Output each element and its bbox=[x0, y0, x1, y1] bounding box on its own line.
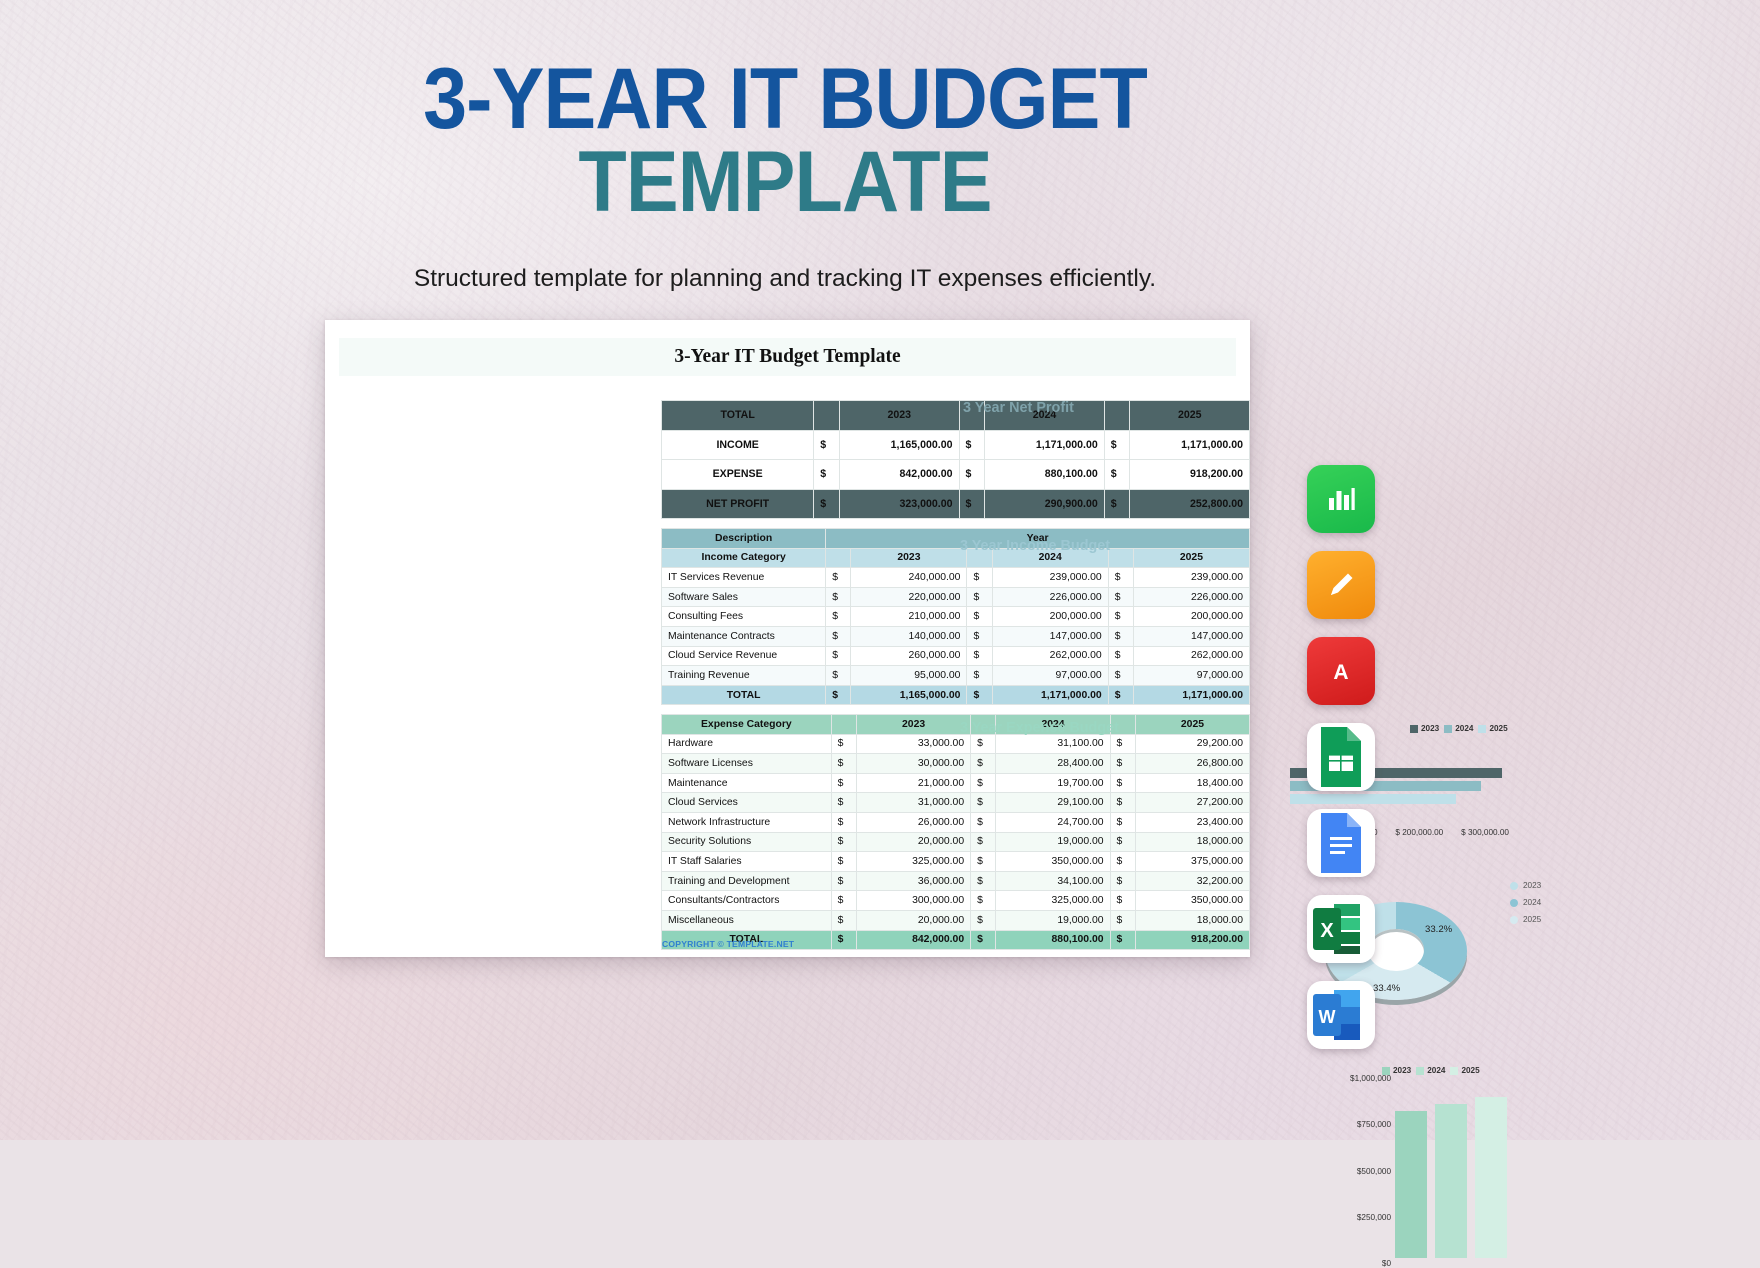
table-row: Maintenance Contracts$140,000.00$147,000… bbox=[662, 626, 1250, 646]
cell-2024: 1,171,000.00 bbox=[985, 430, 1105, 460]
donut-label-2024: 33.2% bbox=[1425, 924, 1452, 935]
y-tick-label: $500,000 bbox=[1357, 1167, 1391, 1176]
legend-item: 2025 bbox=[1478, 724, 1507, 733]
table-row: Consultants/Contractors$300,000.00$325,0… bbox=[662, 891, 1250, 911]
copyright-notice[interactable]: COPYRIGHT © TEMPLATE.NET bbox=[662, 939, 794, 949]
income-total-row: TOTAL$1,165,000.00$1,171,000.00$1,171,00… bbox=[662, 685, 1250, 705]
currency-symbol: $ bbox=[971, 910, 996, 930]
y-tick-label: $250,000 bbox=[1357, 1213, 1391, 1222]
legend-label: 2023 bbox=[1393, 1066, 1411, 1075]
currency-symbol: $ bbox=[1104, 430, 1130, 460]
cell-2024: 239,000.00 bbox=[992, 568, 1108, 588]
row-label: NET PROFIT bbox=[662, 489, 814, 519]
table-row: Maintenance$21,000.00$19,700.00$18,400.0… bbox=[662, 773, 1250, 793]
currency-symbol: $ bbox=[971, 832, 996, 852]
cell-2025: 200,000.00 bbox=[1133, 607, 1249, 627]
row-label: IT Services Revenue bbox=[662, 568, 826, 588]
currency-symbol: $ bbox=[831, 812, 856, 832]
table-row-net-profit: NET PROFIT $ 323,000.00 $ 290,900.00 $ 2… bbox=[662, 489, 1250, 519]
table-row: EXPENSE $ 842,000.00 $ 880,100.00 $ 918,… bbox=[662, 460, 1250, 490]
currency-symbol: $ bbox=[1110, 812, 1135, 832]
currency-symbol: $ bbox=[831, 734, 856, 754]
currency-symbol: $ bbox=[971, 852, 996, 872]
sheet-title-band: 3-Year IT Budget Template bbox=[339, 338, 1236, 376]
currency-symbol: $ bbox=[1110, 891, 1135, 911]
legend-label: 2025 bbox=[1489, 724, 1507, 733]
row-label: Consultants/Contractors bbox=[662, 891, 832, 911]
cell-2023: 323,000.00 bbox=[840, 489, 960, 519]
row-label: Hardware bbox=[662, 734, 832, 754]
currency-symbol: $ bbox=[1110, 734, 1135, 754]
table-row: Hardware$33,000.00$31,100.00$29,200.00 bbox=[662, 734, 1250, 754]
expense-table: Expense Category 2023 2024 2025 Hardware… bbox=[661, 714, 1250, 950]
y-tick-label: $750,000 bbox=[1357, 1120, 1391, 1129]
cell-2024: 97,000.00 bbox=[992, 666, 1108, 686]
cell-2025: 18,000.00 bbox=[1135, 832, 1249, 852]
cell-2023: 30,000.00 bbox=[857, 754, 971, 774]
legend-swatch bbox=[1416, 1067, 1424, 1075]
cell-2023: 31,000.00 bbox=[857, 793, 971, 813]
row-label: Cloud Service Revenue bbox=[662, 646, 826, 666]
cell-2024: 19,000.00 bbox=[996, 832, 1110, 852]
cell-2023: 20,000.00 bbox=[857, 832, 971, 852]
currency-symbol: $ bbox=[1104, 489, 1130, 519]
income-header-category: Income Category bbox=[662, 548, 826, 568]
cell-2024: 147,000.00 bbox=[992, 626, 1108, 646]
cell-2025: 29,200.00 bbox=[1135, 734, 1249, 754]
cell-2023: 240,000.00 bbox=[851, 568, 967, 588]
currency-symbol: $ bbox=[1108, 587, 1133, 607]
row-label: TOTAL bbox=[662, 685, 826, 705]
table-row: Cloud Service Revenue$260,000.00$262,000… bbox=[662, 646, 1250, 666]
x-tick-label: $ 300,000.00 bbox=[1461, 828, 1509, 837]
expense-budget-legend: 202320242025 bbox=[1382, 1066, 1480, 1075]
legend-label: 2023 bbox=[1523, 881, 1541, 890]
cell-2025: 252,800.00 bbox=[1130, 489, 1250, 519]
currency-symbol: $ bbox=[1110, 930, 1135, 950]
cell-2024: 24,700.00 bbox=[996, 812, 1110, 832]
row-label: Software Sales bbox=[662, 587, 826, 607]
table-row: Software Licenses$30,000.00$28,400.00$26… bbox=[662, 754, 1250, 774]
currency-symbol: $ bbox=[1104, 460, 1130, 490]
currency-symbol: $ bbox=[831, 871, 856, 891]
table-row: IT Staff Salaries$325,000.00$350,000.00$… bbox=[662, 852, 1250, 872]
currency-symbol: $ bbox=[814, 460, 840, 490]
cell-2025: 350,000.00 bbox=[1135, 891, 1249, 911]
svg-text:A: A bbox=[1333, 661, 1348, 684]
net-profit-chart-title: 3 Year Net Profit bbox=[963, 400, 1074, 416]
row-label: Maintenance Contracts bbox=[662, 626, 826, 646]
currency-symbol: $ bbox=[1110, 773, 1135, 793]
currency-symbol: $ bbox=[967, 685, 992, 705]
currency-symbol: $ bbox=[1108, 646, 1133, 666]
income-header-2025: 2025 bbox=[1133, 548, 1249, 568]
cell-2023: 842,000.00 bbox=[857, 930, 971, 950]
legend-label: 2024 bbox=[1455, 724, 1473, 733]
currency-symbol: $ bbox=[1108, 568, 1133, 588]
currency-symbol: $ bbox=[831, 793, 856, 813]
cell-2023: 325,000.00 bbox=[857, 852, 971, 872]
cell-2023: 21,000.00 bbox=[857, 773, 971, 793]
cell-2025: 97,000.00 bbox=[1133, 666, 1249, 686]
cell-2025: 23,400.00 bbox=[1135, 812, 1249, 832]
row-label: IT Staff Salaries bbox=[662, 852, 832, 872]
cell-2023: 95,000.00 bbox=[851, 666, 967, 686]
legend-item: 2023 bbox=[1410, 724, 1439, 733]
cell-2023: 140,000.00 bbox=[851, 626, 967, 646]
currency-symbol: $ bbox=[971, 754, 996, 774]
currency-symbol: $ bbox=[831, 891, 856, 911]
expense-budget-y-axis: $1,000,000$750,000$500,000$250,000$0 bbox=[1293, 1078, 1391, 1263]
table-row: Network Infrastructure$26,000.00$24,700.… bbox=[662, 812, 1250, 832]
legend-item: 2024 bbox=[1444, 724, 1473, 733]
cell-2023: 260,000.00 bbox=[851, 646, 967, 666]
expense-header-category: Expense Category bbox=[662, 715, 832, 735]
cell-2023: 36,000.00 bbox=[857, 871, 971, 891]
cell-2025: 375,000.00 bbox=[1135, 852, 1249, 872]
cell-2024: 34,100.00 bbox=[996, 871, 1110, 891]
expense-header-2025: 2025 bbox=[1135, 715, 1249, 735]
currency-symbol: $ bbox=[826, 626, 851, 646]
currency-symbol: $ bbox=[967, 607, 992, 627]
currency-symbol: $ bbox=[831, 852, 856, 872]
cell-2024: 1,171,000.00 bbox=[992, 685, 1108, 705]
currency-symbol: $ bbox=[1110, 793, 1135, 813]
currency-symbol: $ bbox=[831, 754, 856, 774]
cell-2025: 18,000.00 bbox=[1135, 910, 1249, 930]
currency-symbol: $ bbox=[971, 812, 996, 832]
currency-symbol: $ bbox=[1108, 666, 1133, 686]
currency-symbol: $ bbox=[1108, 607, 1133, 627]
page-subtitle: Structured template for planning and tra… bbox=[0, 265, 1570, 293]
spreadsheet-sheet: 3-Year IT Budget Template TOTAL 2023 202… bbox=[325, 320, 1250, 957]
currency-symbol: $ bbox=[971, 734, 996, 754]
legend-label: 2025 bbox=[1523, 915, 1541, 924]
cell-2024: 325,000.00 bbox=[996, 891, 1110, 911]
row-label: Network Infrastructure bbox=[662, 812, 832, 832]
currency-symbol: $ bbox=[826, 607, 851, 627]
cell-2025: 32,200.00 bbox=[1135, 871, 1249, 891]
currency-symbol: $ bbox=[971, 793, 996, 813]
x-tick-label: $ 200,000.00 bbox=[1395, 828, 1443, 837]
table-row: Software Sales$220,000.00$226,000.00$226… bbox=[662, 587, 1250, 607]
cell-2025: 226,000.00 bbox=[1133, 587, 1249, 607]
income-header-row: Income Category 2023 2024 2025 bbox=[662, 548, 1250, 568]
currency-symbol: $ bbox=[959, 489, 985, 519]
currency-symbol: $ bbox=[831, 910, 856, 930]
currency-symbol: $ bbox=[1110, 871, 1135, 891]
cell-2024: 290,900.00 bbox=[985, 489, 1105, 519]
row-label: Training Revenue bbox=[662, 666, 826, 686]
row-label: Cloud Services bbox=[662, 793, 832, 813]
cell-2023: 1,165,000.00 bbox=[840, 430, 960, 460]
cell-2024: 28,400.00 bbox=[996, 754, 1110, 774]
currency-symbol: $ bbox=[971, 871, 996, 891]
row-label: Software Licenses bbox=[662, 754, 832, 774]
expense-bar-2024 bbox=[1435, 1104, 1467, 1258]
currency-symbol: $ bbox=[831, 930, 856, 950]
currency-symbol: $ bbox=[831, 773, 856, 793]
legend-item: 2023 bbox=[1510, 881, 1541, 890]
row-label: Training and Development bbox=[662, 871, 832, 891]
cell-2024: 350,000.00 bbox=[996, 852, 1110, 872]
file-format-icon-strip: A X W bbox=[1307, 465, 1379, 1067]
legend-label: 2025 bbox=[1461, 1066, 1479, 1075]
apple-keynote-icon[interactable] bbox=[1307, 551, 1375, 619]
currency-symbol: $ bbox=[1110, 852, 1135, 872]
net-profit-legend: 202320242025 bbox=[1410, 724, 1508, 733]
currency-symbol: $ bbox=[1110, 832, 1135, 852]
cell-2025: 262,000.00 bbox=[1133, 646, 1249, 666]
table-row: Miscellaneous$20,000.00$19,000.00$18,000… bbox=[662, 910, 1250, 930]
legend-swatch bbox=[1510, 916, 1518, 924]
currency-symbol: $ bbox=[826, 587, 851, 607]
table-row: Consulting Fees$210,000.00$200,000.00$20… bbox=[662, 607, 1250, 627]
legend-label: 2023 bbox=[1421, 724, 1439, 733]
legend-swatch bbox=[1450, 1067, 1458, 1075]
table-row: IT Services Revenue$240,000.00$239,000.0… bbox=[662, 568, 1250, 588]
row-label: Maintenance bbox=[662, 773, 832, 793]
legend-swatch bbox=[1410, 725, 1418, 733]
cell-2025: 918,200.00 bbox=[1130, 460, 1250, 490]
title-line-1: 3-YEAR IT BUDGET bbox=[63, 58, 1507, 141]
currency-symbol: $ bbox=[959, 430, 985, 460]
cell-2023: 33,000.00 bbox=[857, 734, 971, 754]
cell-2024: 19,000.00 bbox=[996, 910, 1110, 930]
cell-2024: 29,100.00 bbox=[996, 793, 1110, 813]
legend-swatch bbox=[1510, 882, 1518, 890]
income-budget-legend: 202320242025 bbox=[1510, 881, 1541, 924]
microsoft-excel-icon[interactable]: X bbox=[1307, 895, 1375, 963]
currency-symbol: $ bbox=[814, 489, 840, 519]
cell-2025: 239,000.00 bbox=[1133, 568, 1249, 588]
summary-table: TOTAL 2023 2024 2025 INCOME $ 1,165,000.… bbox=[661, 400, 1250, 519]
row-label: Security Solutions bbox=[662, 832, 832, 852]
cell-2024: 226,000.00 bbox=[992, 587, 1108, 607]
table-row: Training Revenue$95,000.00$97,000.00$97,… bbox=[662, 666, 1250, 686]
cell-2024: 880,100.00 bbox=[985, 460, 1105, 490]
currency-symbol: $ bbox=[1108, 685, 1133, 705]
svg-text:X: X bbox=[1320, 920, 1334, 942]
expense-header-2023: 2023 bbox=[857, 715, 971, 735]
currency-symbol: $ bbox=[826, 666, 851, 686]
income-band-description: Description bbox=[662, 529, 826, 549]
currency-symbol: $ bbox=[1110, 754, 1135, 774]
cell-2023: 1,165,000.00 bbox=[851, 685, 967, 705]
legend-item: 2025 bbox=[1450, 1066, 1479, 1075]
cell-2024: 19,700.00 bbox=[996, 773, 1110, 793]
expense-budget-bar-chart bbox=[1395, 1083, 1510, 1258]
legend-swatch bbox=[1510, 899, 1518, 907]
legend-swatch bbox=[1478, 725, 1486, 733]
table-row: INCOME $ 1,165,000.00 $ 1,171,000.00 $ 1… bbox=[662, 430, 1250, 460]
summary-header-row: TOTAL 2023 2024 2025 bbox=[662, 401, 1250, 431]
cell-2025: 1,171,000.00 bbox=[1133, 685, 1249, 705]
currency-symbol: $ bbox=[967, 568, 992, 588]
cell-2024: 200,000.00 bbox=[992, 607, 1108, 627]
cell-2023: 300,000.00 bbox=[857, 891, 971, 911]
legend-item: 2025 bbox=[1510, 915, 1541, 924]
page-title: 3-YEAR IT BUDGET TEMPLATE bbox=[0, 58, 1570, 223]
legend-swatch bbox=[1444, 725, 1452, 733]
income-table: Description Year Income Category 2023 20… bbox=[661, 528, 1250, 705]
sheet-title: 3-Year IT Budget Template bbox=[674, 346, 900, 368]
table-row: Cloud Services$31,000.00$29,100.00$27,20… bbox=[662, 793, 1250, 813]
income-header-2023: 2023 bbox=[851, 548, 967, 568]
legend-item: 2024 bbox=[1510, 898, 1541, 907]
table-row: Training and Development$36,000.00$34,10… bbox=[662, 871, 1250, 891]
currency-symbol: $ bbox=[814, 430, 840, 460]
cell-2023: 26,000.00 bbox=[857, 812, 971, 832]
currency-symbol: $ bbox=[826, 568, 851, 588]
currency-symbol: $ bbox=[1108, 626, 1133, 646]
currency-symbol: $ bbox=[959, 460, 985, 490]
expense-bar-2025 bbox=[1475, 1097, 1507, 1258]
y-tick-label: $0 bbox=[1382, 1259, 1391, 1268]
microsoft-word-icon[interactable]: W bbox=[1307, 981, 1375, 1049]
currency-symbol: $ bbox=[971, 930, 996, 950]
income-band-row: Description Year bbox=[662, 529, 1250, 549]
expense-budget-chart-title: 3 Year Expense Budget bbox=[960, 720, 1119, 736]
cell-2025: 147,000.00 bbox=[1133, 626, 1249, 646]
cell-2025: 18,400.00 bbox=[1135, 773, 1249, 793]
summary-header-2025: 2025 bbox=[1130, 401, 1250, 431]
summary-header-total: TOTAL bbox=[662, 401, 814, 431]
currency-symbol: $ bbox=[826, 646, 851, 666]
currency-symbol: $ bbox=[831, 832, 856, 852]
summary-header-2023: 2023 bbox=[840, 401, 960, 431]
row-label: Consulting Fees bbox=[662, 607, 826, 627]
legend-label: 2024 bbox=[1523, 898, 1541, 907]
cell-2024: 31,100.00 bbox=[996, 734, 1110, 754]
currency-symbol: $ bbox=[1110, 910, 1135, 930]
currency-symbol: $ bbox=[967, 646, 992, 666]
cell-2024: 880,100.00 bbox=[996, 930, 1110, 950]
cell-2023: 210,000.00 bbox=[851, 607, 967, 627]
cell-2023: 220,000.00 bbox=[851, 587, 967, 607]
expense-bar-2023 bbox=[1395, 1111, 1427, 1258]
adobe-pdf-icon[interactable]: A bbox=[1307, 637, 1375, 705]
row-label: EXPENSE bbox=[662, 460, 814, 490]
row-label: INCOME bbox=[662, 430, 814, 460]
income-budget-chart-title: 3 Year Income Budget bbox=[960, 538, 1110, 554]
google-docs-icon[interactable] bbox=[1307, 809, 1375, 877]
cell-2023: 20,000.00 bbox=[857, 910, 971, 930]
cell-2023: 842,000.00 bbox=[840, 460, 960, 490]
cell-2025: 26,800.00 bbox=[1135, 754, 1249, 774]
expense-header-row: Expense Category 2023 2024 2025 bbox=[662, 715, 1250, 735]
currency-symbol: $ bbox=[826, 685, 851, 705]
y-tick-label: $1,000,000 bbox=[1350, 1074, 1391, 1083]
google-sheets-icon[interactable] bbox=[1307, 723, 1375, 791]
currency-symbol: $ bbox=[967, 666, 992, 686]
row-label: Miscellaneous bbox=[662, 910, 832, 930]
table-row: Security Solutions$20,000.00$19,000.00$1… bbox=[662, 832, 1250, 852]
legend-item: 2024 bbox=[1416, 1066, 1445, 1075]
cell-2025: 27,200.00 bbox=[1135, 793, 1249, 813]
svg-text:W: W bbox=[1319, 1007, 1336, 1027]
apple-numbers-icon[interactable] bbox=[1307, 465, 1375, 533]
currency-symbol: $ bbox=[967, 587, 992, 607]
cell-2024: 262,000.00 bbox=[992, 646, 1108, 666]
currency-symbol: $ bbox=[967, 626, 992, 646]
currency-symbol: $ bbox=[971, 891, 996, 911]
cell-2025: 918,200.00 bbox=[1135, 930, 1249, 950]
legend-label: 2024 bbox=[1427, 1066, 1445, 1075]
cell-2025: 1,171,000.00 bbox=[1130, 430, 1250, 460]
title-line-2: TEMPLATE bbox=[63, 141, 1507, 224]
currency-symbol: $ bbox=[971, 773, 996, 793]
